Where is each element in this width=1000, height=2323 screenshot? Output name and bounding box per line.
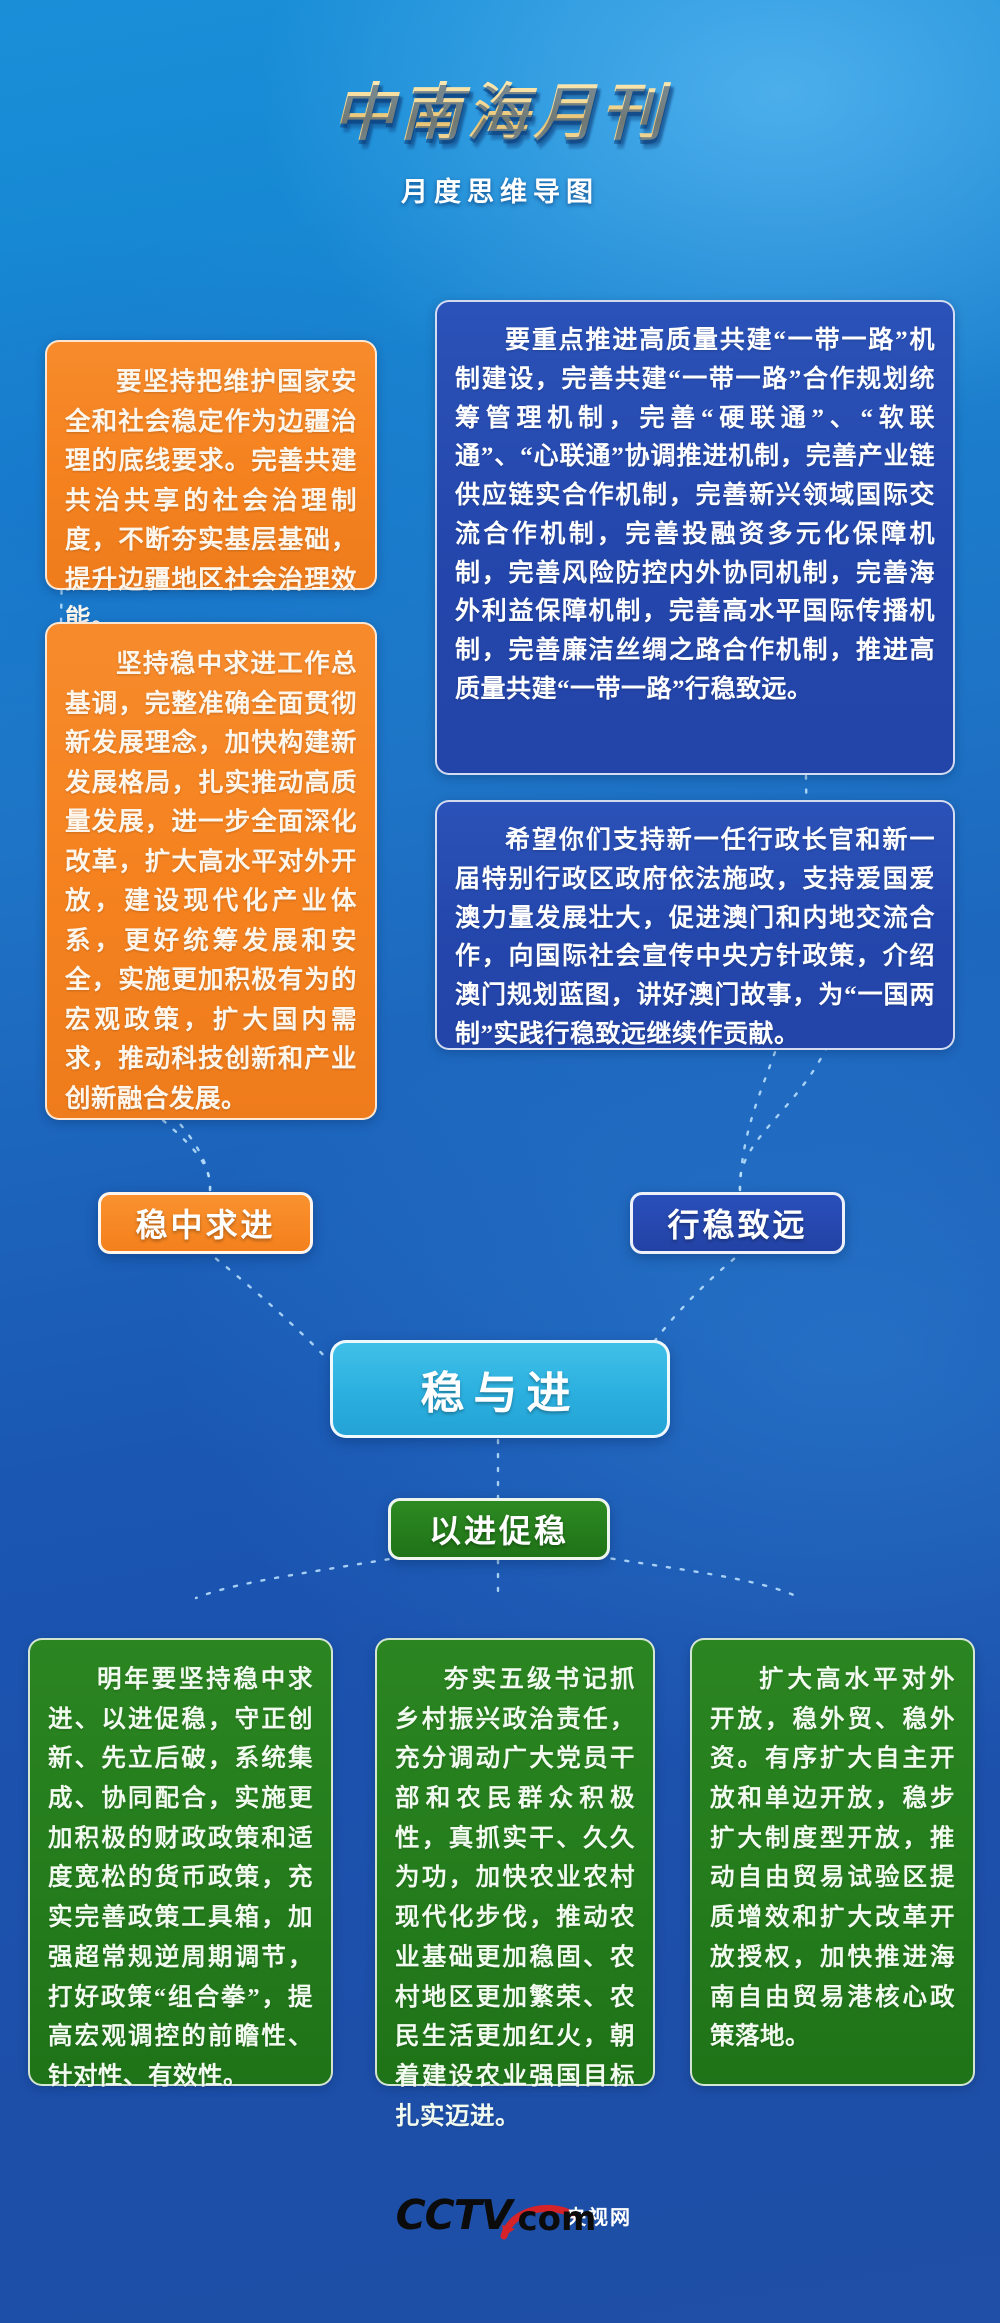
node-progress-promotes-stability[interactable]: 以进促稳 — [388, 1498, 610, 1560]
page-title: 中南海月刊 — [322, 62, 677, 152]
node-center-stability-and-progress[interactable]: 稳与进 — [330, 1340, 670, 1438]
cctv-logo-wrap: CCTV com — [396, 2195, 597, 2236]
card-green-macro-policy: 明年要坚持稳中求进、以进促稳，守正创新、先立后破，系统集成、协同配合，实施更加积… — [28, 1638, 333, 2086]
node-steady-progress[interactable]: 稳中求进 — [98, 1192, 313, 1254]
card-green-rural-revitalization: 夯实五级书记抓乡村振兴政治责任，充分调动广大党员干部和农民群众积极性，真抓实干、… — [375, 1638, 655, 2086]
page-subtitle: 月度思维导图 — [0, 170, 1000, 209]
infographic-page: 中南海月刊 月度思维导图 要坚持把维护国家安全和社会稳定作为边疆治理的底线要求。… — [0, 0, 1000, 2323]
com-wordmark: com — [517, 2202, 596, 2236]
footer-logo: CCTV com — [0, 2195, 1000, 2236]
card-orange-border-governance: 要坚持把维护国家安全和社会稳定作为边疆治理的底线要求。完善共建共治共享的社会治理… — [45, 340, 377, 590]
cctv-wordmark: CCTV — [396, 2195, 512, 2236]
node-far-and-steady[interactable]: 行稳致远 — [630, 1192, 845, 1254]
page-header: 中南海月刊 月度思维导图 — [0, 0, 1000, 209]
card-navy-macau: 希望你们支持新一任行政长官和新一届特别行政区政府依法施政，支持爱国爱澳力量发展壮… — [435, 800, 955, 1050]
card-green-opening-up: 扩大高水平对外开放，稳外贸、稳外资。有序扩大自主开放和单边开放，稳步扩大制度型开… — [690, 1638, 975, 2086]
card-navy-belt-and-road: 要重点推进高质量共建“一带一路”机制建设，完善共建“一带一路”合作规划统筹管理机… — [435, 300, 955, 775]
card-orange-steady-progress: 坚持稳中求进工作总基调，完整准确全面贯彻新发展理念，加快构建新发展格局，扎实推动… — [45, 622, 377, 1120]
